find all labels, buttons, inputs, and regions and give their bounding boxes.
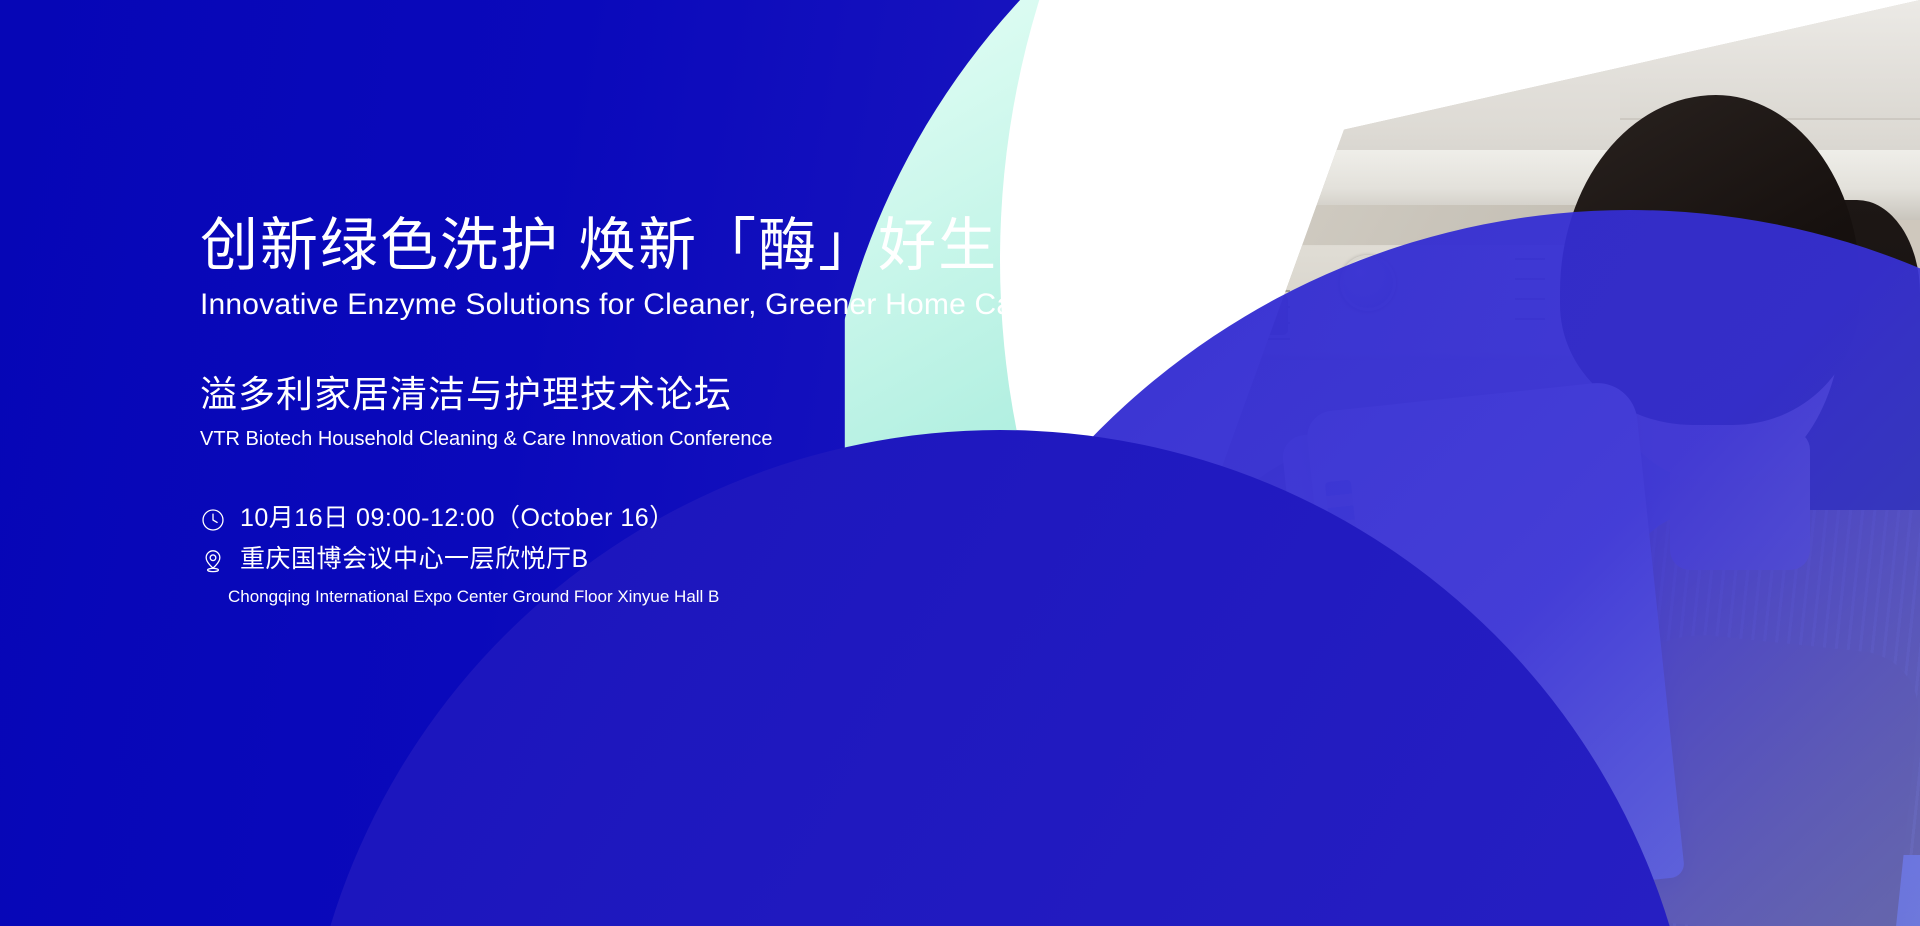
headline-english: Innovative Enzyme Solutions for Cleaner,… <box>200 287 1040 323</box>
event-date-text: 10月16日 09:00-12:00（October 16） <box>240 504 675 533</box>
conference-banner: 创新绿色洗护 焕新「酶」好生活 Innovative Enzyme Soluti… <box>0 0 1920 926</box>
event-location-row: 重庆国博会议中心一层欣悦厅B <box>200 545 1040 574</box>
headline-chinese: 创新绿色洗护 焕新「酶」好生活 <box>200 214 1040 279</box>
map-pin-icon <box>200 548 226 574</box>
clock-icon <box>200 507 226 533</box>
banner-content: 创新绿色洗护 焕新「酶」好生活 Innovative Enzyme Soluti… <box>200 214 1040 609</box>
conference-name-english: VTR Biotech Household Cleaning & Care In… <box>200 426 1040 452</box>
event-location-text-wrap: 重庆国博会议中心一层欣悦厅B <box>240 545 589 574</box>
event-date-row: 10月16日 09:00-12:00（October 16） <box>200 504 1040 533</box>
event-details: 10月16日 09:00-12:00（October 16） 重庆国博会议中心一… <box>200 504 1040 609</box>
event-location-chinese: 重庆国博会议中心一层欣悦厅B <box>240 545 589 574</box>
event-location-english: Chongqing International Expo Center Grou… <box>228 586 1040 609</box>
event-date-text-wrap: 10月16日 09:00-12:00（October 16） <box>240 504 675 533</box>
conference-name-chinese: 溢多利家居清洁与护理技术论坛 <box>200 373 1040 417</box>
